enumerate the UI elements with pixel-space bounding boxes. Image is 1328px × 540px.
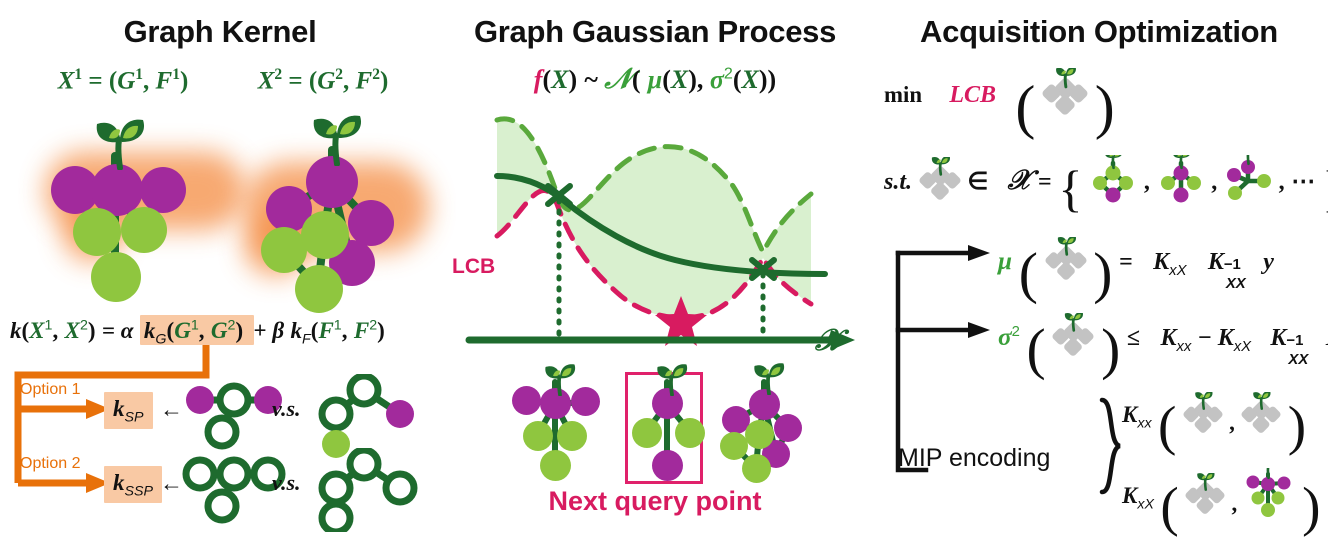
comma-separator: , xyxy=(1279,169,1285,195)
node-purple xyxy=(512,386,541,415)
panel-title-gaussian-process: Graph Gaussian Process xyxy=(440,16,870,47)
domain-candidate-3 xyxy=(1224,155,1272,203)
gray-molecule-placeholder xyxy=(919,157,961,203)
subject-to-label: s.t. xyxy=(884,169,912,195)
node-purple xyxy=(652,450,683,481)
panel-title-graph-kernel: Graph Kernel xyxy=(0,16,440,47)
next-query-point-label: Next query point xyxy=(440,486,870,517)
gray-molecule-placeholder xyxy=(1185,473,1225,517)
equation-posterior-mean: μ ( xyxy=(998,237,1274,306)
node-green xyxy=(742,454,771,483)
colored-molecule-observed xyxy=(1244,468,1296,518)
gp-posterior-plot xyxy=(445,108,865,368)
equation-kxX: KxX ( xyxy=(1122,468,1320,538)
gray-molecule-placeholder xyxy=(1052,313,1094,359)
option1-vs-label: v.s. xyxy=(272,396,301,422)
mip-encoding-label: MIP encoding xyxy=(898,444,1050,473)
node-green xyxy=(720,432,748,460)
kernel-sp-box: kSP xyxy=(104,392,153,429)
relation-leq: ≤ xyxy=(1127,325,1140,351)
candidate-molecule-3 xyxy=(712,364,822,486)
highlighted-graph-kernel-term: kG(G1, G2) xyxy=(140,315,254,345)
leaf-icon xyxy=(304,112,370,166)
equation-input-x2: X2 = (G2, F2) xyxy=(228,66,418,95)
leaf-icon xyxy=(539,362,581,396)
arrow-left-option1: ← xyxy=(160,396,183,423)
paren-open: ( xyxy=(1015,74,1035,140)
option2-vs-label: v.s. xyxy=(272,470,301,496)
node-green xyxy=(557,421,587,451)
domain-symbol: 𝒳 xyxy=(1008,164,1032,195)
option-2-label: Option 2 xyxy=(20,455,80,473)
node-purple xyxy=(140,167,186,213)
panel-acquisition-optimization: Acquisition Optimization min LCB ( xyxy=(870,0,1328,540)
node-green xyxy=(301,211,349,259)
candidate-molecule-2-selected[interactable] xyxy=(630,368,710,486)
equation-gaussian-process: f(X) ~ 𝒩( μ(X), σ2(X)) xyxy=(440,64,870,96)
leaf-icon xyxy=(651,362,693,396)
node-green xyxy=(295,265,343,313)
gray-molecule-placeholder xyxy=(1045,237,1087,283)
gray-molecule-placeholder xyxy=(1241,392,1281,436)
domain-candidate-1 xyxy=(1089,155,1137,203)
sigma-symbol: σ xyxy=(998,324,1012,351)
candidate-molecule-1 xyxy=(510,368,620,486)
node-green xyxy=(675,418,705,448)
element-of-symbol: ∈ xyxy=(967,169,988,195)
equation-graph-kernel: k(X1, X2) = α kG(G1, G2) + β kF(F1, F2) xyxy=(10,317,385,348)
comma-separator: , xyxy=(1144,169,1150,195)
figure-root: Graph Kernel X1 = (G1, F1) X2 = (G2, F2) xyxy=(0,0,1328,540)
acquisition-function-label: LCB xyxy=(949,82,996,108)
sigma-exponent: 2 xyxy=(1012,324,1020,340)
x-axis-label: 𝒳 xyxy=(815,324,841,358)
leaf-icon xyxy=(748,361,790,395)
node-green xyxy=(73,208,121,256)
node-green xyxy=(121,207,167,253)
min-operator: min xyxy=(884,82,922,107)
brace-close: } xyxy=(1322,161,1328,217)
equals-symbol: = xyxy=(1038,169,1052,195)
node-green xyxy=(523,421,553,451)
node-green xyxy=(745,420,774,449)
node-purple xyxy=(348,200,394,246)
option-1-label: Option 1 xyxy=(20,381,80,399)
node-green xyxy=(540,450,571,481)
panel-graph-kernel: Graph Kernel X1 = (G1, F1) X2 = (G2, F2) xyxy=(0,0,440,540)
option1-graph-right xyxy=(316,374,436,458)
brace-open: { xyxy=(1058,161,1082,217)
paren-close: ) xyxy=(1095,74,1115,140)
option2-graph-right xyxy=(316,448,436,532)
gray-molecule-placeholder xyxy=(1042,68,1088,118)
lcb-annotation: LCB xyxy=(452,255,495,279)
relation-equals: = xyxy=(1119,249,1133,275)
leaf-icon xyxy=(87,116,153,170)
ellipsis: ⋯ xyxy=(1291,169,1315,195)
comma-separator: , xyxy=(1232,491,1238,516)
molecule-graph-x1 xyxy=(55,110,235,310)
node-green xyxy=(91,252,141,302)
molecule-graph-x2 xyxy=(248,110,428,310)
equation-kxx: Kxx ( xyxy=(1122,392,1306,457)
equation-constraint: s.t. xyxy=(884,155,1328,218)
node-green xyxy=(632,418,662,448)
equation-posterior-variance: σ2 ( xyxy=(998,313,1328,382)
comma-separator: , xyxy=(1229,410,1235,435)
equation-objective: min LCB ( xyxy=(884,68,1115,142)
mu-symbol: μ xyxy=(998,248,1012,275)
domain-candidate-2 xyxy=(1157,155,1205,203)
comma-separator: , xyxy=(1211,169,1217,195)
panel-title-acquisition: Acquisition Optimization xyxy=(870,16,1328,47)
kernel-ssp-box: kSSP xyxy=(104,466,162,503)
node-purple xyxy=(774,414,802,442)
arrow-left-option2: ← xyxy=(160,470,183,497)
gray-molecule-placeholder xyxy=(1183,392,1223,436)
equation-input-x1: X1 = (G1, F1) xyxy=(28,66,218,95)
